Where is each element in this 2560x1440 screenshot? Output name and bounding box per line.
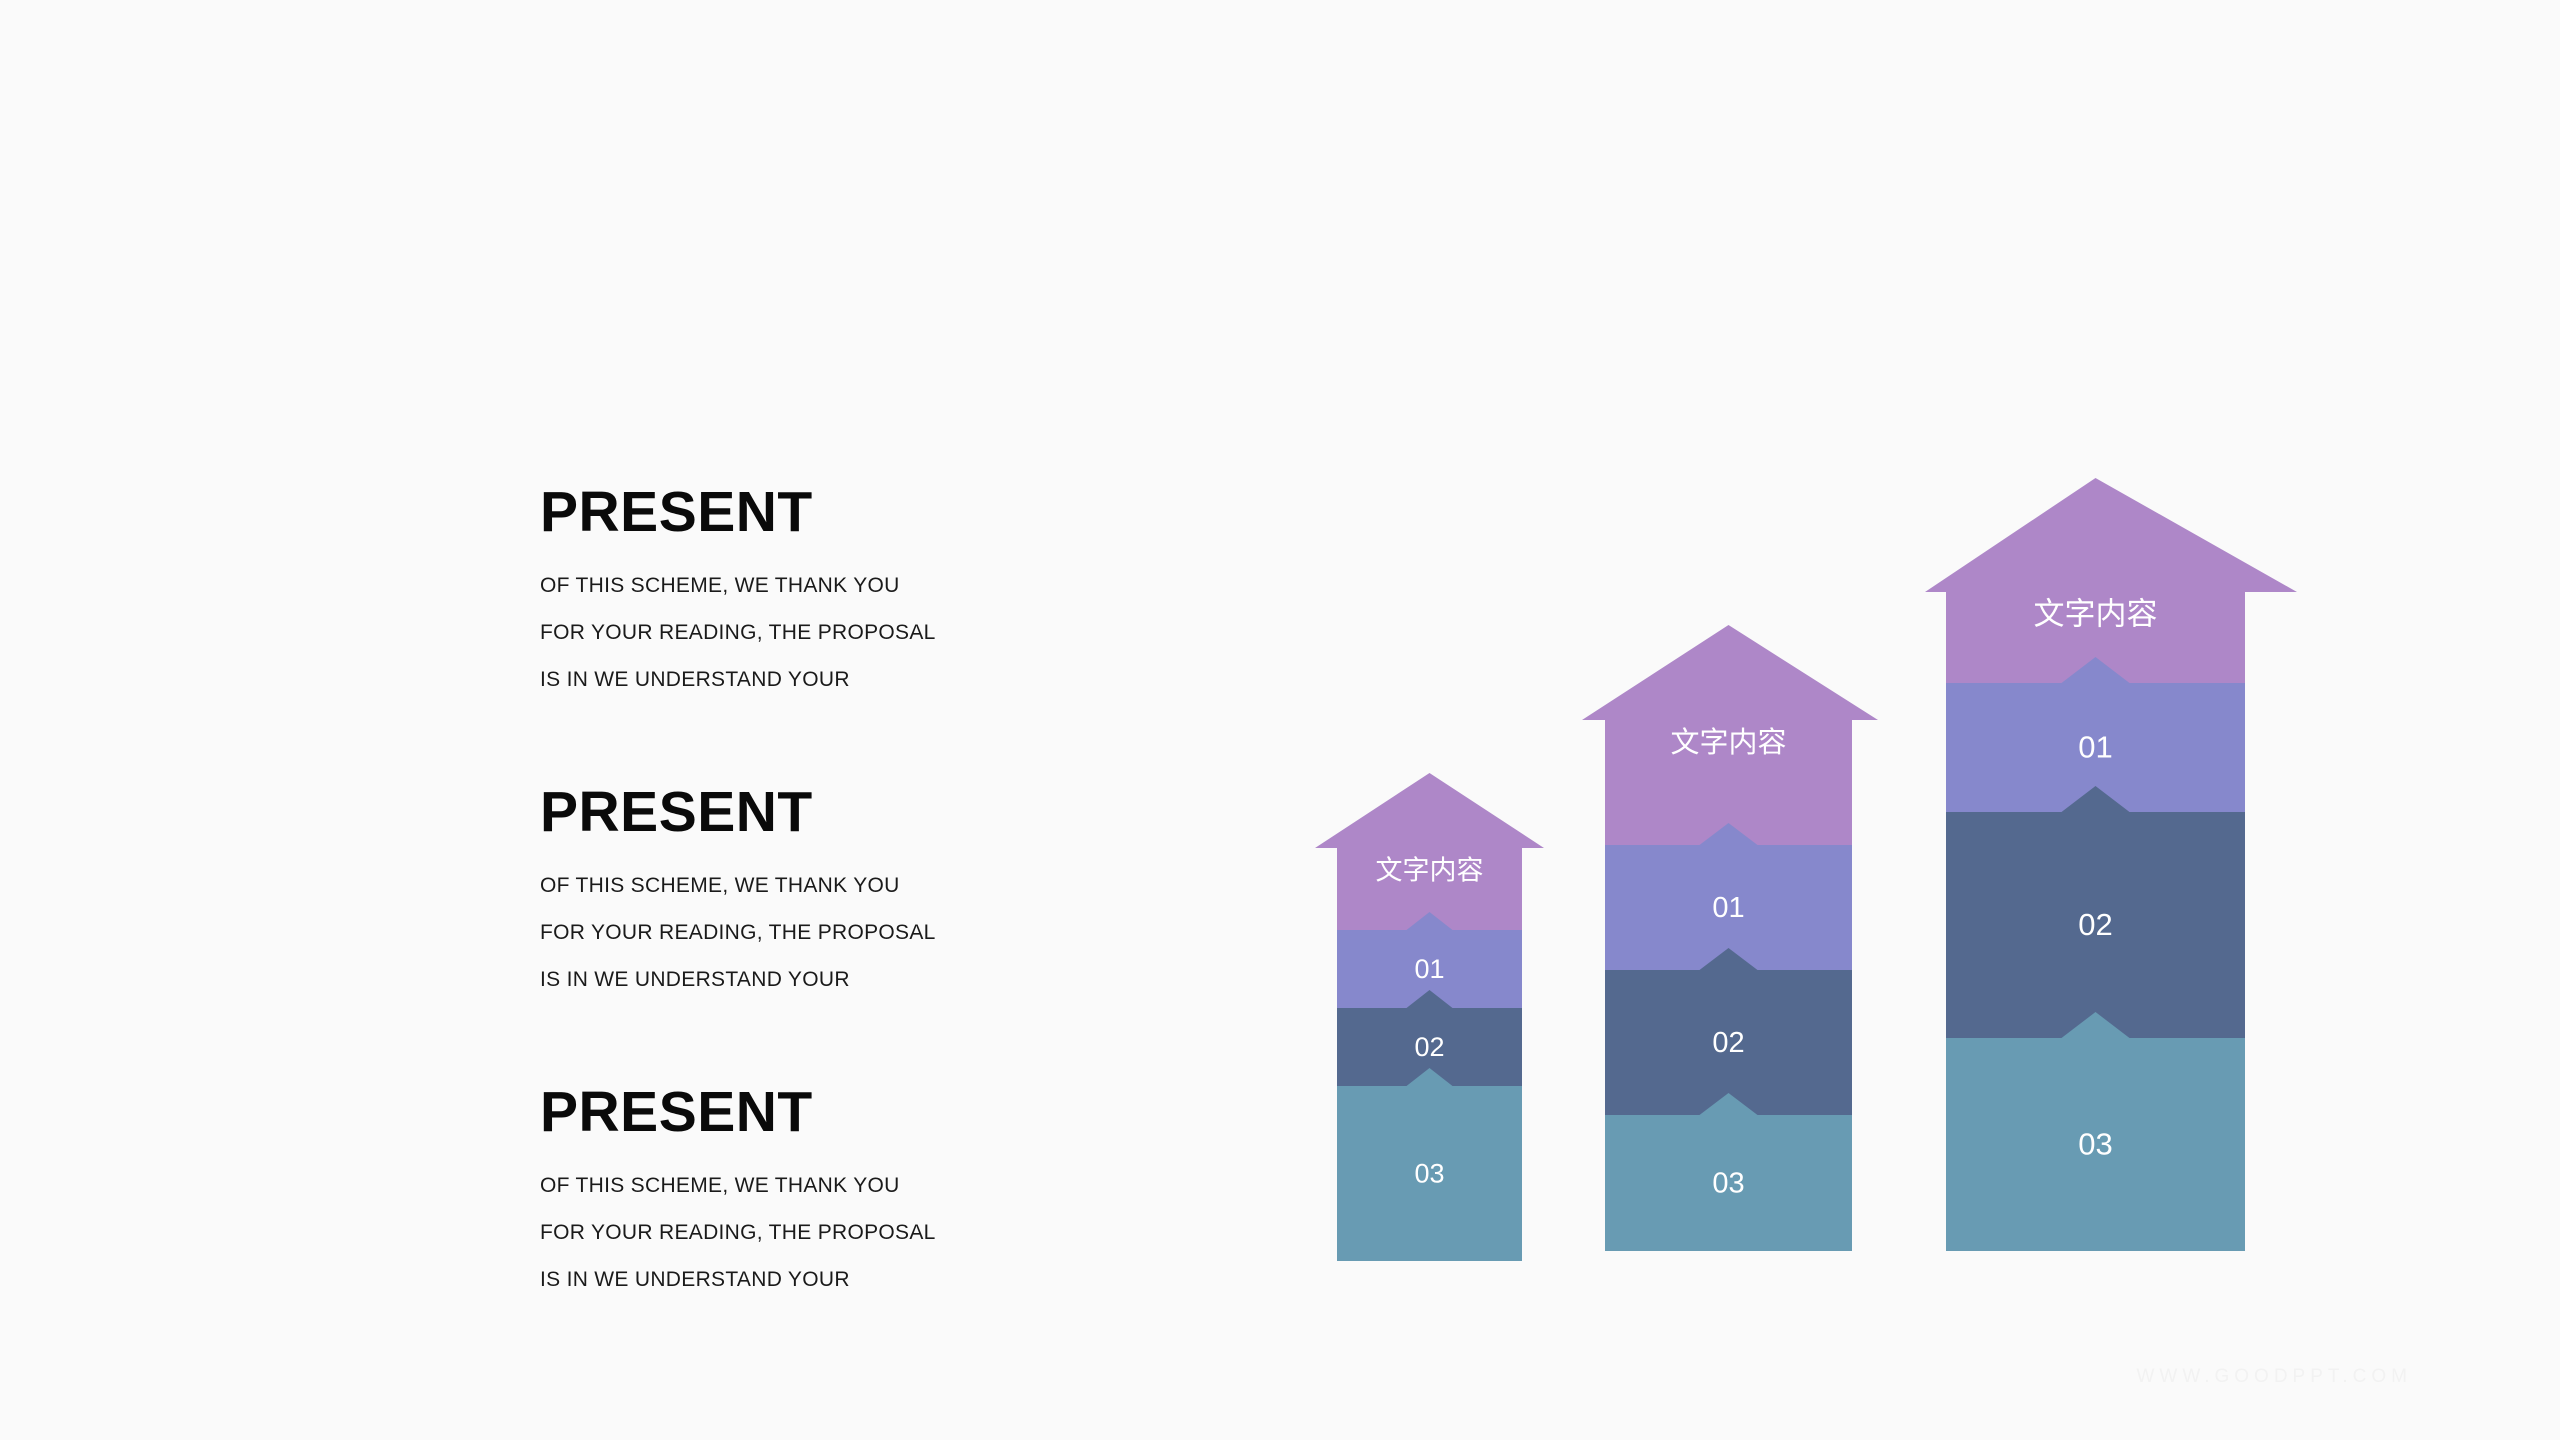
large-arrow-label-02: 02 xyxy=(2078,907,2112,942)
block-line-1-3: IS IN WE UNDERSTAND YOUR xyxy=(540,669,1160,690)
medium-arrow-label-01: 01 xyxy=(1712,892,1744,924)
small-arrow-label-02: 02 xyxy=(1414,1032,1444,1062)
arrow-chart-group: 文字内容010203 文字内容010203 文字内容010203 xyxy=(0,0,2560,1440)
large-arrow[interactable]: 文字内容010203 xyxy=(1925,478,2297,1251)
small-arrow-segment-03[interactable] xyxy=(1337,1068,1522,1261)
large-arrow-segment-01[interactable] xyxy=(1946,657,2245,812)
block-title-3: PRESENT xyxy=(540,1084,1160,1141)
text-block-2: PRESENT OF THIS SCHEME, WE THANK YOU FOR… xyxy=(540,784,1160,990)
medium-arrow-label-03: 03 xyxy=(1712,1168,1744,1200)
slide-canvas: PRESENT OF THIS SCHEME, WE THANK YOU FOR… xyxy=(0,0,2560,1440)
small-arrow-label-03: 03 xyxy=(1414,1159,1444,1189)
large-arrow-segment-head[interactable] xyxy=(1925,478,2297,683)
small-arrow[interactable]: 文字内容010203 xyxy=(1315,773,1544,1261)
block-line-3-1: OF THIS SCHEME, WE THANK YOU xyxy=(540,1175,1160,1196)
block-line-1-2: FOR YOUR READING, THE PROPOSAL xyxy=(540,622,1160,643)
small-arrow-label-01: 01 xyxy=(1414,954,1444,984)
medium-arrow-label-02: 02 xyxy=(1712,1027,1744,1059)
block-line-3-3: IS IN WE UNDERSTAND YOUR xyxy=(540,1269,1160,1290)
medium-arrow-segment-03[interactable] xyxy=(1605,1093,1852,1251)
large-arrow-segment-03[interactable] xyxy=(1946,1012,2245,1251)
watermark-text: WWW.GOODPPT.COM xyxy=(2136,1366,2412,1388)
medium-arrow[interactable]: 文字内容010203 xyxy=(1582,625,1878,1251)
text-block-3: PRESENT OF THIS SCHEME, WE THANK YOU FOR… xyxy=(540,1084,1160,1290)
block-line-2-2: FOR YOUR READING, THE PROPOSAL xyxy=(540,922,1160,943)
text-block-1: PRESENT OF THIS SCHEME, WE THANK YOU FOR… xyxy=(540,484,1160,690)
block-lines-3: OF THIS SCHEME, WE THANK YOU FOR YOUR RE… xyxy=(540,1175,1160,1290)
medium-arrow-label-head: 文字内容 xyxy=(1670,725,1786,759)
block-title-2: PRESENT xyxy=(540,784,1160,841)
block-title-1: PRESENT xyxy=(540,484,1160,541)
small-arrow-segment-head[interactable] xyxy=(1315,773,1544,930)
block-lines-1: OF THIS SCHEME, WE THANK YOU FOR YOUR RE… xyxy=(540,575,1160,690)
small-arrow-label-head: 文字内容 xyxy=(1376,856,1484,887)
block-line-2-1: OF THIS SCHEME, WE THANK YOU xyxy=(540,875,1160,896)
medium-arrow-segment-head[interactable] xyxy=(1582,625,1878,845)
large-arrow-segment-02[interactable] xyxy=(1946,786,2245,1038)
block-line-1-1: OF THIS SCHEME, WE THANK YOU xyxy=(540,575,1160,596)
block-line-2-3: IS IN WE UNDERSTAND YOUR xyxy=(540,969,1160,990)
small-arrow-segment-02[interactable] xyxy=(1337,990,1522,1086)
medium-arrow-segment-01[interactable] xyxy=(1605,823,1852,970)
small-arrow-segment-01[interactable] xyxy=(1337,912,1522,1008)
large-arrow-label-03: 03 xyxy=(2078,1127,2112,1162)
large-arrow-label-01: 01 xyxy=(2078,730,2112,765)
large-arrow-label-head: 文字内容 xyxy=(2034,597,2158,633)
medium-arrow-segment-02[interactable] xyxy=(1605,948,1852,1115)
block-line-3-2: FOR YOUR READING, THE PROPOSAL xyxy=(540,1222,1160,1243)
block-lines-2: OF THIS SCHEME, WE THANK YOU FOR YOUR RE… xyxy=(540,875,1160,990)
